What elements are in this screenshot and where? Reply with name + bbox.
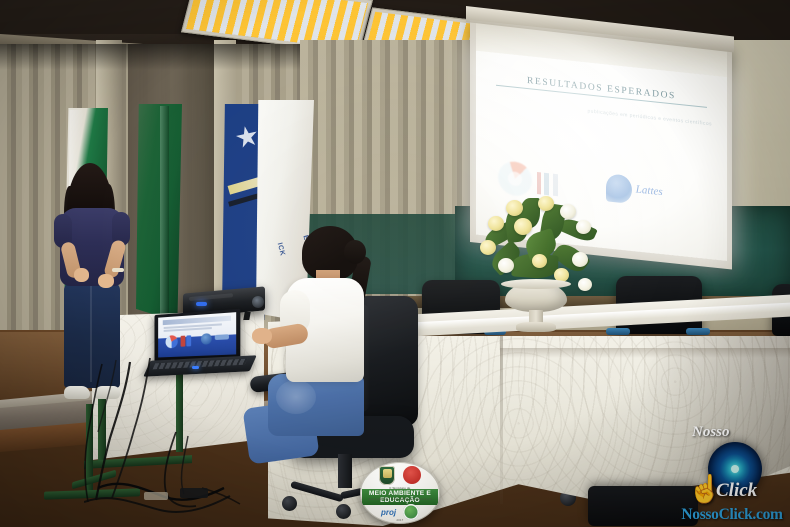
rose <box>514 218 532 235</box>
bracelet <box>112 268 124 272</box>
flag-green <box>136 104 182 322</box>
lattes-logo-label: Lattes <box>636 183 663 198</box>
logo-strip-icons <box>537 172 571 198</box>
green-seal-icon <box>403 504 419 520</box>
chair-armrest-left <box>606 328 630 335</box>
badge-footer: 2017 <box>360 519 440 522</box>
rose <box>578 278 592 291</box>
chair-armrest-right <box>686 328 710 335</box>
red-globe-icon <box>403 466 421 484</box>
vase-rim <box>501 279 571 289</box>
watermark-line2: Click <box>716 480 757 502</box>
watermark-line1: Nosso <box>692 424 730 441</box>
flag-fold <box>160 106 169 316</box>
proj-logo-label: proj <box>381 508 396 517</box>
tablecloth-fold <box>500 336 503 504</box>
vase-base <box>516 322 556 332</box>
photo-scene: RESULTADOS ESPERADOS publicações em peri… <box>0 0 790 527</box>
university-crest-icon <box>379 466 395 485</box>
cable-bundle-floor <box>84 392 314 527</box>
rose <box>498 258 514 273</box>
rose <box>560 204 576 219</box>
watermark-url: NossoClick.com <box>672 506 790 524</box>
event-badge-logo: II Simpósio de MEIO AMBIENTE E EDUCAÇÃO … <box>360 462 440 524</box>
photographer-watermark: Nosso ☝ Click NossoClick.com <box>676 424 790 527</box>
badge-sponsor-logos: proj <box>360 505 440 519</box>
hand-right <box>98 274 114 288</box>
rose <box>506 200 523 216</box>
hand-left <box>74 268 89 282</box>
badge-subtitle: Sustentabilidade e Responsabilidade Soci… <box>365 498 435 502</box>
pie-chart-logo-icon <box>498 160 532 198</box>
lattes-logo: Lattes <box>606 173 684 211</box>
rose <box>576 220 591 234</box>
crest-inner <box>383 469 392 478</box>
stone-urn-vase <box>505 282 567 334</box>
rose <box>488 216 504 231</box>
rose <box>532 254 547 268</box>
rose <box>572 252 588 267</box>
badge-crests-row <box>360 462 440 488</box>
wall-shadow <box>0 44 330 70</box>
rose <box>538 196 554 211</box>
lattes-mark-icon <box>606 173 632 204</box>
pie-chart-center <box>508 171 522 186</box>
lens-reflection <box>731 465 739 473</box>
rose <box>480 240 496 255</box>
hair-bun <box>344 240 366 264</box>
